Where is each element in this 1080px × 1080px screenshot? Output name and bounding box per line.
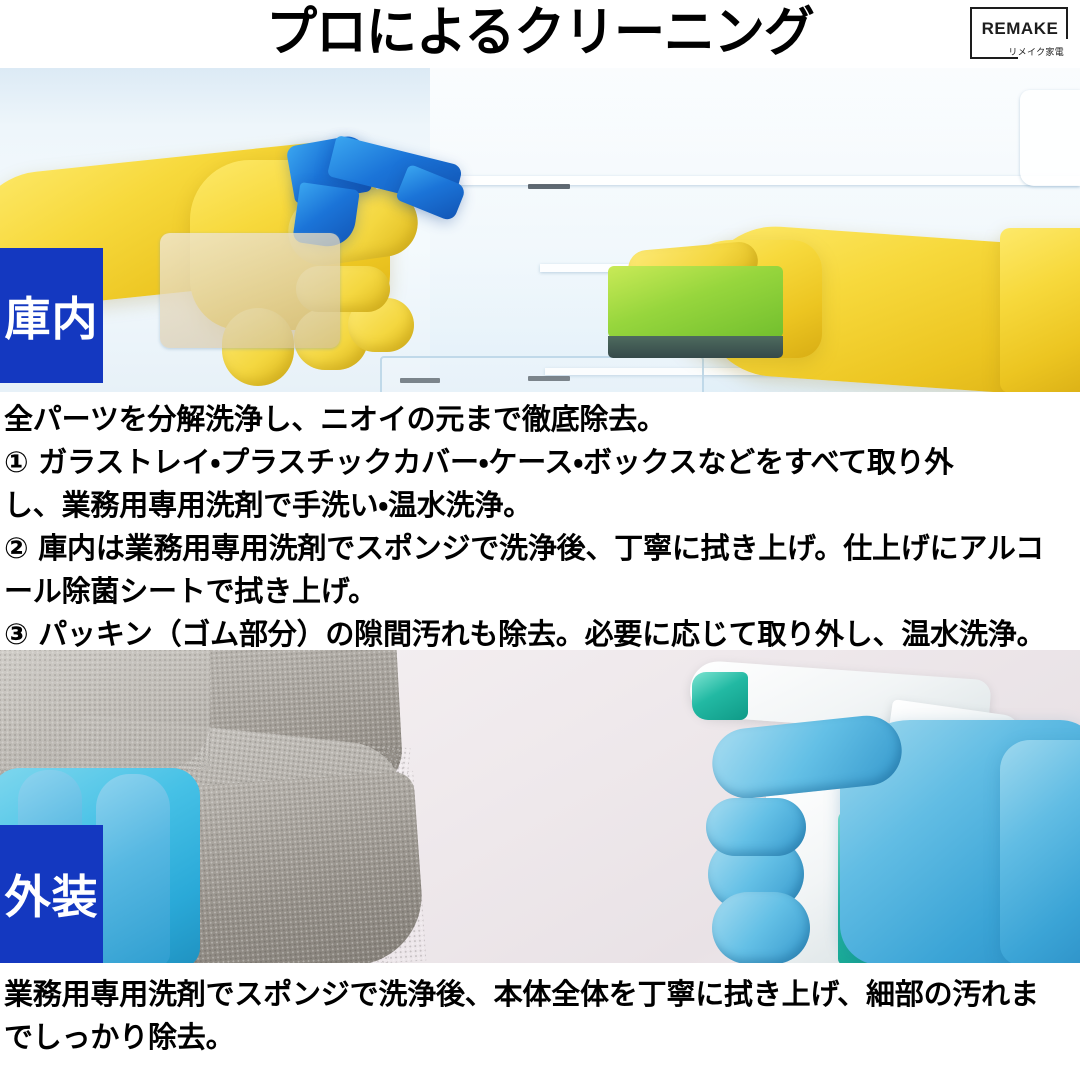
blue-glove-right-back xyxy=(1000,740,1080,963)
blue-glove-right-finger-2 xyxy=(706,798,806,856)
fridge-wire-shelf xyxy=(380,356,704,392)
page-title: プロによるクリーニング xyxy=(22,2,1059,64)
header: プロによるクリーニング REMAKE リメイク家電 xyxy=(0,0,1080,68)
fridge-door-bin xyxy=(1020,90,1080,186)
spray-bottle-reservoir xyxy=(160,233,340,348)
description-line: でしっかり除去。 xyxy=(4,1016,1076,1059)
description-line: 全パーツを分解洗浄し、ニオイの元まで徹底除去。 xyxy=(4,398,1076,441)
cloth-texture xyxy=(0,650,210,770)
blue-glove-left-finger-2 xyxy=(96,774,170,963)
description-line: ② 庫内は業務用専用洗剤でスポンジで洗浄後、丁寧に拭き上げ。仕上げにアルコ xyxy=(4,527,1076,570)
logo-wordmark: REMAKE xyxy=(972,19,1068,39)
description-line: し、業務用専用洗剤で手洗い・温水洗浄。 xyxy=(4,484,1076,527)
logo-tagline: リメイク家電 xyxy=(1008,45,1064,58)
section-badge-interior-label: 庫内 xyxy=(5,283,99,349)
description-interior: 全パーツを分解洗浄し、ニオイの元まで徹底除去。 ① ガラストレイ・プラスチックカ… xyxy=(0,392,1080,650)
infographic-page: プロによるクリーニング REMAKE リメイク家電 xyxy=(0,0,1080,1080)
remake-logo: REMAKE リメイク家電 xyxy=(970,7,1068,59)
description-exterior: 業務用専用洗剤でスポンジで洗浄後、本体全体を丁寧に拭き上げ、細部の汚れま でしっ… xyxy=(0,963,1080,1080)
fridge-rail-slot-2 xyxy=(528,184,570,189)
photo-exterior-wipe: 外装 xyxy=(0,650,1080,963)
photo-fridge-interior: 庫内 xyxy=(0,68,1080,392)
section-badge-exterior: 外装 xyxy=(0,825,103,963)
spray-bottle-nozzle-tip xyxy=(692,672,748,720)
sponge-icon xyxy=(608,266,783,338)
section-badge-interior: 庫内 xyxy=(0,248,103,383)
sponge-scrub-pad xyxy=(608,336,783,358)
description-line: 業務用専用洗剤でスポンジで洗浄後、本体全体を丁寧に拭き上げ、細部の汚れま xyxy=(4,973,1076,1016)
section-badge-exterior-label: 外装 xyxy=(5,861,99,927)
blue-glove-right-finger-3 xyxy=(712,892,810,963)
description-line: ール除菌シートで拭き上げ。 xyxy=(4,570,1076,613)
fridge-shelf-edge-upper xyxy=(380,176,1080,185)
yellow-glove-right-cuff xyxy=(1000,228,1080,392)
cloth-edge-highlight xyxy=(0,650,210,770)
description-line: ① ガラストレイ・プラスチックカバー・ケース・ボックスなどをすべて取り外 xyxy=(4,441,1076,484)
